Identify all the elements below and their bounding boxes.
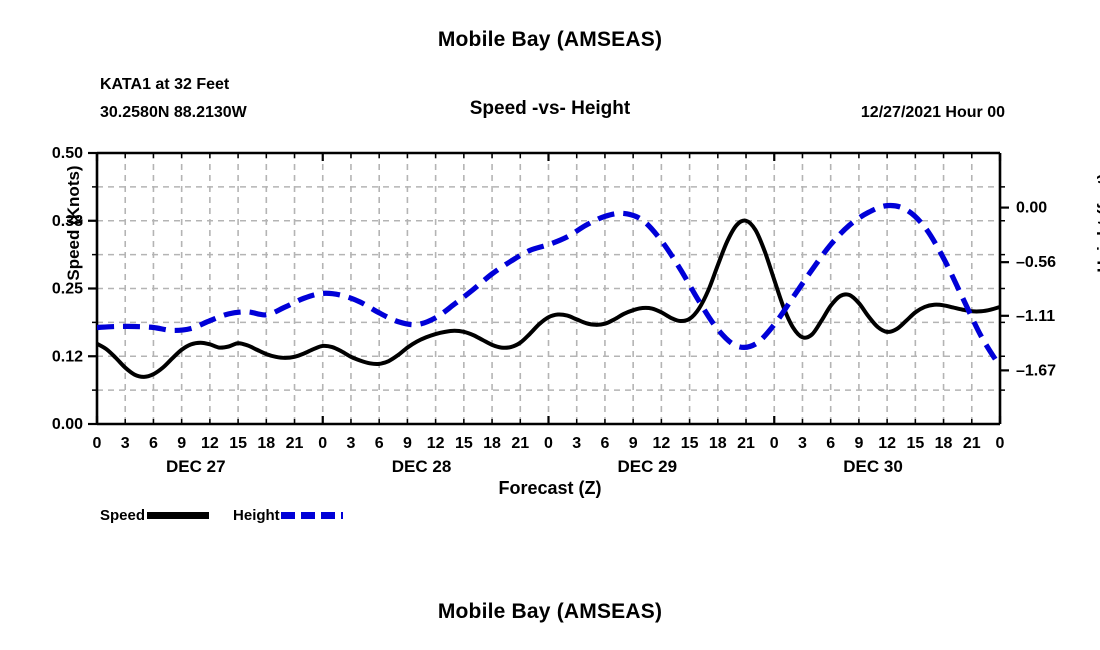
x-axis-tick-label: 12 bbox=[427, 435, 445, 452]
x-axis-tick-label: 9 bbox=[177, 435, 186, 452]
legend-item-height: Height bbox=[233, 507, 343, 524]
page-title-bottom: Mobile Bay (AMSEAS) bbox=[0, 600, 1100, 624]
x-axis-day-label: DEC 29 bbox=[618, 457, 678, 476]
x-axis-tick-label: 12 bbox=[652, 435, 670, 452]
x-axis-tick-label: 12 bbox=[201, 435, 219, 452]
x-axis-tick-label: 15 bbox=[681, 435, 699, 452]
x-axis-tick-label: 21 bbox=[963, 435, 981, 452]
x-axis-tick-label: 0 bbox=[770, 435, 779, 452]
legend-label-speed: Speed bbox=[100, 507, 145, 524]
legend-swatch-height bbox=[281, 512, 343, 519]
y-axis-label-left: Speed (Knots) bbox=[64, 143, 84, 303]
x-axis-tick-label: 3 bbox=[121, 435, 130, 452]
x-axis-tick-label: 6 bbox=[149, 435, 158, 452]
x-axis-tick-label: 21 bbox=[737, 435, 755, 452]
x-axis-tick-label: 9 bbox=[854, 435, 863, 452]
x-axis-tick-label: 21 bbox=[286, 435, 304, 452]
x-axis-tick-label: 9 bbox=[403, 435, 412, 452]
x-axis-tick-label: 12 bbox=[878, 435, 896, 452]
x-axis-tick-label: 6 bbox=[826, 435, 835, 452]
x-axis-tick-label: 15 bbox=[906, 435, 924, 452]
legend-item-speed: Speed bbox=[100, 507, 209, 524]
x-axis-tick-label: 18 bbox=[257, 435, 275, 452]
x-axis-tick-label: 9 bbox=[629, 435, 638, 452]
x-axis-tick-label: 0 bbox=[996, 435, 1005, 452]
chart-svg: 0.000.120.250.380.50–1.67–1.11–0.560.000… bbox=[0, 0, 1100, 650]
x-axis-tick-label: 6 bbox=[600, 435, 609, 452]
y-axis-tick-label-left: 0.12 bbox=[52, 348, 83, 365]
plot-area: 0.000.120.250.380.50–1.67–1.11–0.560.000… bbox=[0, 0, 1100, 650]
y-axis-tick-label-right: –1.11 bbox=[1016, 308, 1055, 325]
x-axis-tick-label: 0 bbox=[318, 435, 327, 452]
x-axis-day-label: DEC 27 bbox=[166, 457, 226, 476]
x-axis-tick-label: 3 bbox=[798, 435, 807, 452]
chart-page: Mobile Bay (AMSEAS) KATA1 at 32 Feet 30.… bbox=[0, 0, 1100, 650]
x-axis-label: Forecast (Z) bbox=[0, 478, 1100, 499]
legend-swatch-speed bbox=[147, 512, 209, 519]
x-axis-tick-label: 18 bbox=[709, 435, 727, 452]
chart-legend: Speed Height bbox=[100, 507, 367, 524]
x-axis-tick-label: 0 bbox=[544, 435, 553, 452]
x-axis-tick-label: 15 bbox=[455, 435, 473, 452]
x-axis-tick-label: 0 bbox=[93, 435, 102, 452]
x-axis-tick-label: 21 bbox=[511, 435, 529, 452]
x-axis-tick-label: 18 bbox=[935, 435, 953, 452]
y-axis-tick-label-right: –1.67 bbox=[1016, 362, 1056, 379]
x-axis-day-label: DEC 28 bbox=[392, 457, 452, 476]
x-axis-day-label: DEC 30 bbox=[843, 457, 903, 476]
x-axis-tick-label: 18 bbox=[483, 435, 501, 452]
x-axis-tick-label: 15 bbox=[229, 435, 247, 452]
x-axis-tick-label: 3 bbox=[572, 435, 581, 452]
y-axis-tick-label-right: –0.56 bbox=[1016, 254, 1056, 271]
y-axis-label-right: Height (feet) bbox=[1094, 143, 1100, 303]
x-axis-tick-label: 6 bbox=[375, 435, 384, 452]
x-axis-tick-label: 3 bbox=[347, 435, 356, 452]
y-axis-tick-label-right: 0.00 bbox=[1016, 200, 1047, 217]
y-axis-tick-label-left: 0.00 bbox=[52, 416, 83, 433]
legend-label-height: Height bbox=[233, 507, 280, 524]
